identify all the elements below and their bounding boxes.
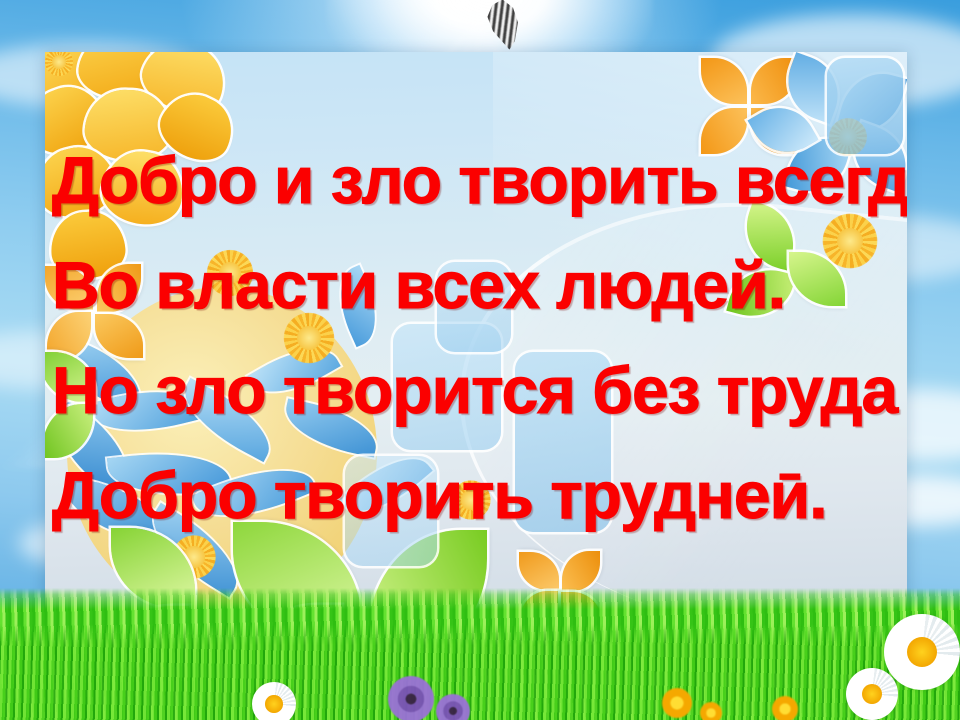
poem-line-1: Добро и зло творить всегда	[52, 128, 907, 233]
grass-foreground-front	[0, 624, 960, 720]
violet-flower-icon	[388, 676, 434, 720]
daisy-flower-icon	[846, 668, 898, 720]
slide-canvas: Добро и зло творить всегда Во власти все…	[0, 0, 960, 720]
yellow-flower-icon	[700, 702, 722, 720]
poem-text-block: Добро и зло творить всегда Во власти все…	[52, 128, 907, 548]
poem-line-4: Добро творить труднеӣ.	[52, 443, 907, 548]
yellow-flower-icon	[662, 688, 692, 718]
yellow-flower-icon	[772, 696, 798, 720]
poem-line-2: Во власти всех людей.	[52, 233, 907, 338]
poem-line-3: Но зло творится без труда	[52, 338, 907, 443]
violet-flower-icon	[436, 694, 470, 720]
daisy-flower-icon	[252, 682, 296, 720]
